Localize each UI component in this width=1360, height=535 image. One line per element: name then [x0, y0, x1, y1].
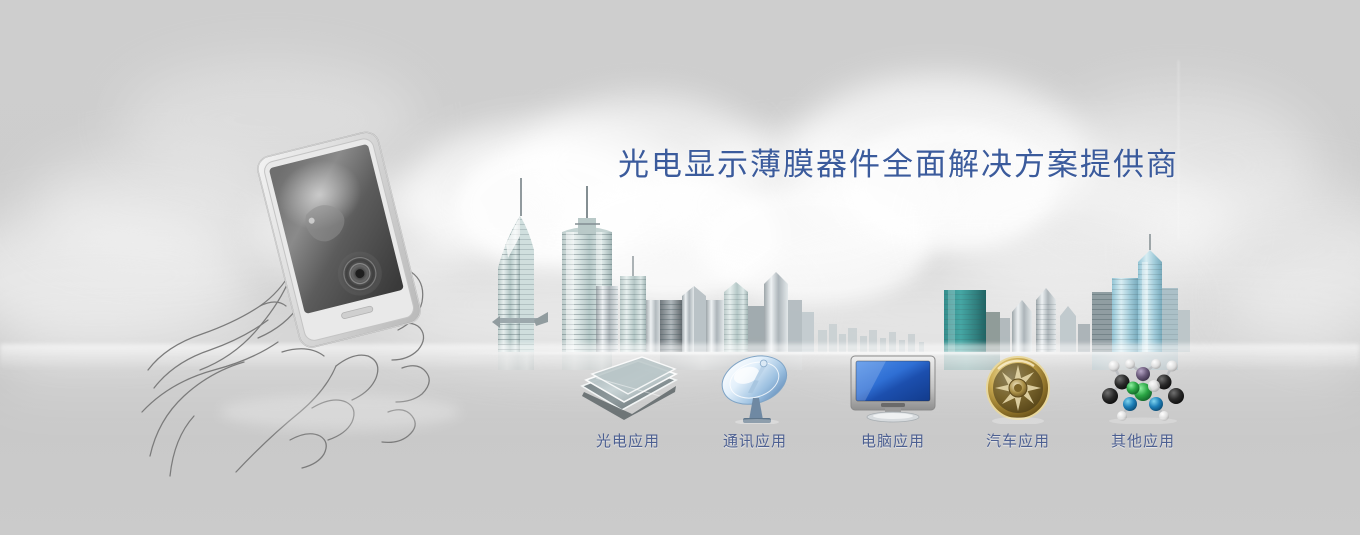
application-label: 通讯应用 [690, 430, 820, 451]
application-label: 汽车应用 [953, 430, 1083, 451]
application-icon-row: 光电应用 [0, 352, 1360, 462]
application-item-optoelectronic[interactable]: 光电应用 [563, 352, 693, 451]
car-wheel-icon [953, 352, 1083, 424]
application-item-other[interactable]: 其他应用 [1078, 352, 1208, 451]
satellite-dish-icon [690, 352, 820, 424]
application-item-computer[interactable]: 电脑应用 [828, 352, 958, 451]
page-title: 光电显示薄膜器件全面解决方案提供商 [618, 139, 1179, 184]
application-label: 光电应用 [563, 430, 693, 451]
application-label: 电脑应用 [828, 430, 958, 451]
computer-monitor-icon [828, 352, 958, 424]
hero-banner: 光电显示薄膜器件全面解决方案提供商 [0, 0, 1360, 535]
application-item-communication[interactable]: 通讯应用 [690, 352, 820, 451]
application-item-automotive[interactable]: 汽车应用 [953, 352, 1083, 451]
glass-panels-icon [563, 352, 693, 424]
molecule-icon [1078, 352, 1208, 424]
application-label: 其他应用 [1078, 430, 1208, 451]
